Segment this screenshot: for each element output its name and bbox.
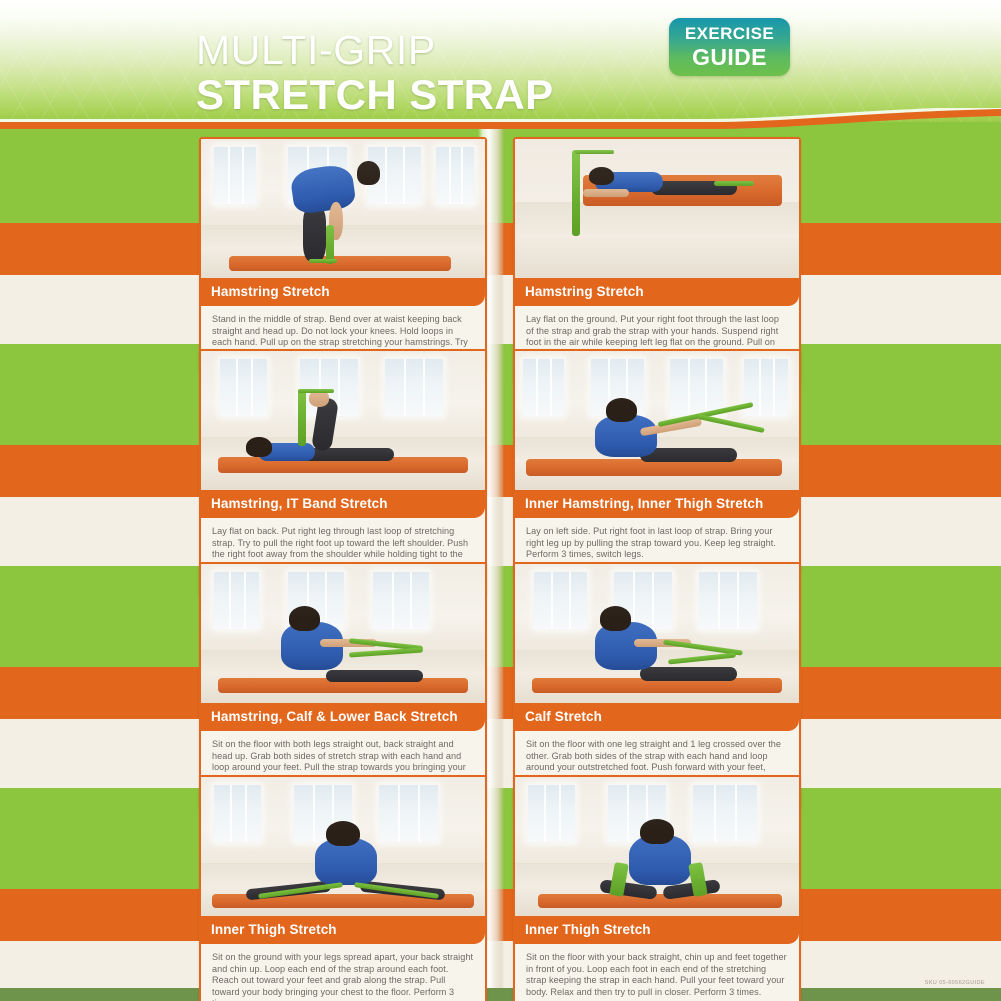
card-title-bar: Inner Thigh Stretch [201,916,485,944]
window-icon [742,357,790,418]
exercise-photo [515,139,799,278]
person-legs [303,206,326,262]
exercise-title: Hamstring, Calf & Lower Back Stretch [211,709,475,724]
studio-scene [201,777,485,916]
poster-header: MULTI-GRIP STRETCH STRAP EXERCISE GUIDE [0,0,1001,122]
exercise-description: Sit on the floor with your back straight… [526,952,788,998]
person-legs [640,667,737,681]
exercise-description: Lay on left side. Put right foot in last… [526,526,788,561]
person-head [326,821,360,846]
exercise-title: Hamstring Stretch [525,284,789,299]
floor [515,202,799,278]
background-bands [0,122,1001,988]
band-cream-2 [0,497,1001,566]
person-legs [326,670,423,683]
header-swoosh-divider [0,108,1001,130]
stretch-strap [575,150,615,154]
exercise-description: Sit on the ground with your legs spread … [212,952,474,1001]
badge-line-2: GUIDE [669,44,790,70]
exercise-photo [515,777,799,916]
band-cream-3 [0,719,1001,788]
stretch-strap [298,389,335,393]
window-icon [697,570,759,631]
title-line-1: MULTI-GRIP [196,30,554,71]
exercise-card-hamstring-calf-lower-back-stretch[interactable]: Hamstring, Calf & Lower Back Stretch Sit… [199,562,487,809]
person-head [600,606,631,631]
card-title-bar: Calf Stretch [515,703,799,731]
stretch-strap [309,259,337,263]
window-icon [218,357,269,418]
exercise-title: Inner Thigh Stretch [211,922,475,937]
exercise-title: Hamstring Stretch [211,284,475,299]
exercise-title: Hamstring, IT Band Stretch [211,496,475,511]
band-orange-3 [0,667,1001,719]
studio-scene [515,564,799,703]
exercise-guide-badge: EXERCISE GUIDE [669,18,790,76]
band-cream-1 [0,275,1001,344]
exercise-photo [515,351,799,490]
exercise-card-hamstring-it-band-stretch[interactable]: Hamstring, IT Band Stretch Lay flat on b… [199,349,487,596]
window-icon [383,357,445,418]
band-green-4 [0,788,1001,889]
studio-scene [515,777,799,916]
band-cream-4 [0,941,1001,988]
footer-strip [0,988,1001,1001]
window-icon [377,783,439,844]
card-title-bar: Hamstring Stretch [201,278,485,306]
person-head [606,398,637,422]
band-orange-4 [0,889,1001,941]
card-title-bar: Inner Thigh Stretch [515,916,799,944]
person-head [289,606,320,631]
studio-scene [201,351,485,490]
yoga-mat [538,894,782,908]
exercise-card-hamstring-stretch-standing[interactable]: Hamstring Stretch Stand in the middle of… [199,137,487,372]
exercise-card-calf-stretch[interactable]: Calf Stretch Sit on the floor with one l… [513,562,801,809]
card-title-bar: Inner Hamstring, Inner Thigh Stretch [515,490,799,518]
exercise-title: Calf Stretch [525,709,789,724]
band-green-3 [0,566,1001,667]
exercise-card-inner-thigh-stretch-butterfly[interactable]: Inner Thigh Stretch Sit on the floor wit… [513,775,801,1001]
band-orange-2 [0,445,1001,497]
card-body: Sit on the floor with your back straight… [515,944,799,1001]
exercise-photo [201,139,485,278]
exercise-photo [515,564,799,703]
exercise-photo [201,777,485,916]
window-icon [212,783,263,844]
card-body: Sit on the ground with your legs spread … [201,944,485,1001]
window-icon [434,145,477,206]
exercise-card-inner-hamstring-inner-thigh-stretch[interactable]: Inner Hamstring, Inner Thigh Stretch Lay… [513,349,801,573]
swoosh-icon [0,108,1001,130]
exercise-guide-poster: MULTI-GRIP STRETCH STRAP EXERCISE GUIDE [0,0,1001,1001]
stretch-strap [572,150,581,236]
exercise-title: Inner Hamstring, Inner Thigh Stretch [525,496,789,511]
studio-scene [201,564,485,703]
window-icon [212,570,260,631]
stretch-strap [298,390,307,446]
window-icon [521,357,566,418]
card-title-bar: Hamstring, Calf & Lower Back Stretch [201,703,485,731]
studio-scene [515,139,799,278]
studio-scene [515,351,799,490]
window-icon [532,570,589,631]
exercise-photo [201,564,485,703]
badge-line-1: EXERCISE [669,24,790,44]
band-green-1 [0,122,1001,223]
window-icon [371,570,431,631]
exercise-card-hamstring-stretch-supine[interactable]: Hamstring Stretch Lay flat on the ground… [513,137,801,384]
band-orange-1 [0,223,1001,275]
window-icon [212,145,257,206]
exercise-photo [201,351,485,490]
person-head [640,819,674,844]
band-green-2 [0,344,1001,445]
person-arm [583,189,628,197]
card-title-bar: Hamstring Stretch [515,278,799,306]
person-head [589,167,615,185]
window-icon [691,783,759,844]
poster-title: MULTI-GRIP STRETCH STRAP [196,30,554,116]
exercise-title: Inner Thigh Stretch [525,922,789,937]
stretch-strap [714,181,754,186]
yoga-mat [229,256,451,271]
person-head [357,161,380,185]
studio-scene [201,139,485,278]
exercise-card-inner-thigh-stretch-straddle[interactable]: Inner Thigh Stretch Sit on the ground wi… [199,775,487,1001]
person-head [246,437,272,456]
card-title-bar: Hamstring, IT Band Stretch [201,490,485,518]
sku-code: SKU 05-60562GUIDE [925,980,985,986]
window-icon [526,783,577,844]
